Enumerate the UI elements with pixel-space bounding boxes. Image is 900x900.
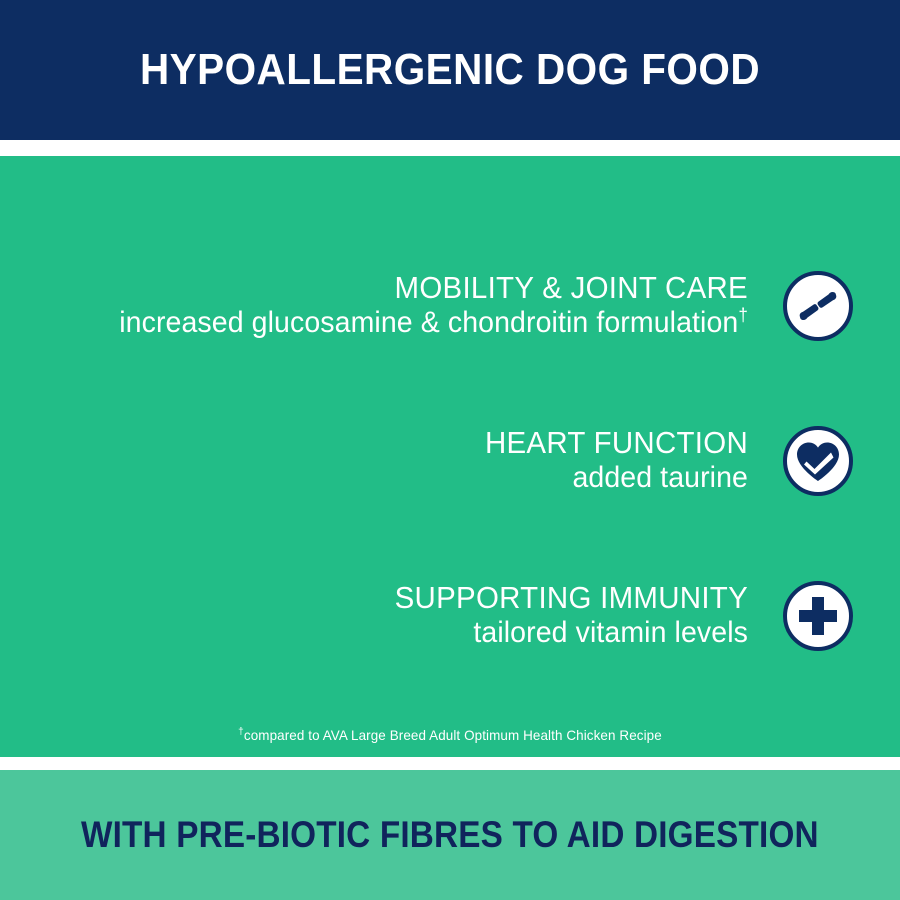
- feature-subtitle-text: increased glucosamine & chondroitin form…: [119, 306, 738, 339]
- feature-row-immunity: SUPPORTING IMMUNITY tailored vitamin lev…: [0, 573, 900, 659]
- feature-subtitle: tailored vitamin levels: [56, 616, 748, 651]
- footnote-marker: †: [738, 305, 748, 325]
- feature-text-block: MOBILITY & JOINT CARE increased glucosam…: [20, 271, 748, 341]
- medical-cross-icon: [783, 581, 853, 651]
- feature-subtitle-text: added taurine: [572, 461, 748, 494]
- bottom-banner: WITH PRE-BIOTIC FIBRES TO AID DIGESTION: [0, 770, 900, 900]
- feature-subtitle: added taurine: [56, 461, 748, 496]
- feature-subtitle: increased glucosamine & chondroitin form…: [56, 306, 748, 341]
- feature-title: HEART FUNCTION: [56, 426, 748, 461]
- bottom-banner-title: WITH PRE-BIOTIC FIBRES TO AID DIGESTION: [81, 814, 819, 856]
- feature-row-mobility: MOBILITY & JOINT CARE increased glucosam…: [0, 263, 900, 349]
- feature-text-block: SUPPORTING IMMUNITY tailored vitamin lev…: [20, 581, 748, 651]
- divider-top: [0, 140, 900, 156]
- footnote: †compared to AVA Large Breed Adult Optim…: [18, 727, 882, 743]
- divider-bottom: [0, 757, 900, 770]
- feature-title: SUPPORTING IMMUNITY: [56, 581, 748, 616]
- feature-text-block: HEART FUNCTION added taurine: [20, 426, 748, 496]
- joint-bone-icon: [783, 271, 853, 341]
- page-title: HYPOALLERGENIC DOG FOOD: [140, 45, 760, 95]
- product-feature-poster: HYPOALLERGENIC DOG FOOD MOBILITY & JOINT…: [0, 0, 900, 900]
- footnote-text: compared to AVA Large Breed Adult Optimu…: [244, 727, 662, 743]
- feature-title: MOBILITY & JOINT CARE: [56, 271, 748, 306]
- feature-subtitle-text: tailored vitamin levels: [473, 616, 748, 649]
- heart-check-icon: [783, 426, 853, 496]
- features-panel: MOBILITY & JOINT CARE increased glucosam…: [0, 156, 900, 757]
- header-band: HYPOALLERGENIC DOG FOOD: [0, 0, 900, 140]
- feature-row-heart: HEART FUNCTION added taurine: [0, 418, 900, 504]
